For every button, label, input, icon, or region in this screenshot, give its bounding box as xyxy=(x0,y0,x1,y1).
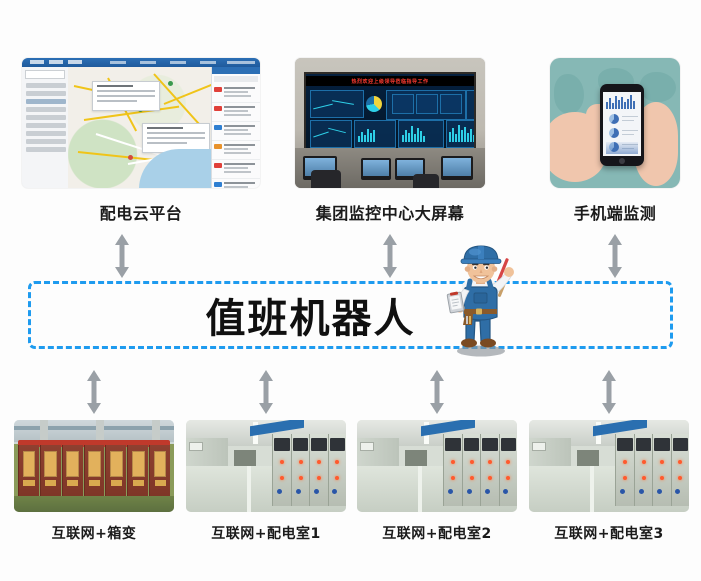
node-cloud-platform[interactable]: 配电云平台 xyxy=(22,58,260,224)
map-info-bubble xyxy=(92,81,160,111)
phone-screen xyxy=(603,92,641,156)
video-wall-banner-text: 热烈欢迎上级领导莅临指导工作 xyxy=(351,78,428,85)
cloud-platform-tree-sidebar xyxy=(22,67,69,188)
arrow-robot-to-box-substation xyxy=(82,368,106,416)
smartphone xyxy=(600,84,644,166)
alarm-list-item xyxy=(212,122,260,141)
phone-area-chart xyxy=(606,142,638,154)
room-2-thumbnail xyxy=(357,420,517,512)
phone-home-button xyxy=(619,158,625,164)
cloud-platform-alarm-list xyxy=(211,67,260,188)
alarm-list-item xyxy=(212,84,260,103)
tree-row xyxy=(26,91,66,96)
tree-row-selected xyxy=(26,99,66,104)
room-3-thumbnail xyxy=(529,420,689,512)
phone-donut-chart xyxy=(609,128,619,138)
tree-row xyxy=(26,147,66,152)
tree-row xyxy=(26,131,66,136)
box-substation-thumbnail xyxy=(14,420,174,512)
map-water-body xyxy=(139,149,213,188)
arrow-robot-to-room-2 xyxy=(425,368,449,416)
banner-title: 值班机器人 xyxy=(31,286,670,344)
operator-chair xyxy=(311,170,341,188)
arrow-robot-to-room-3 xyxy=(597,368,621,416)
room-2-label: 互联网+配电室2 xyxy=(357,523,517,543)
central-banner[interactable]: 值班机器人 xyxy=(28,281,673,349)
red-switchgear-photo xyxy=(14,420,174,512)
tree-search-box xyxy=(25,70,65,79)
mobile-thumbnail xyxy=(550,58,680,188)
phone-bar-chart xyxy=(606,95,635,109)
alarm-list-item xyxy=(212,179,260,188)
arrow-cloud-platform-to-robot xyxy=(110,232,134,280)
tree-row xyxy=(26,115,66,120)
tree-row xyxy=(26,139,66,144)
phone-donut-chart xyxy=(609,114,619,124)
box-substation-label: 互联网+箱变 xyxy=(14,523,174,543)
distribution-room-photo xyxy=(357,420,517,512)
alarm-list-item xyxy=(212,160,260,179)
node-room-1[interactable]: 互联网+配电室1 xyxy=(186,420,346,543)
engineer-mascot-icon xyxy=(440,243,522,357)
distribution-room-photo xyxy=(529,420,689,512)
control-center-thumbnail: 热烈欢迎上级领导莅临指导工作 xyxy=(295,58,485,188)
operator-chair xyxy=(413,174,439,188)
tree-row xyxy=(26,83,66,88)
control-center-label: 集团监控中心大屏幕 xyxy=(295,200,485,224)
control-center-photo: 热烈欢迎上级领导莅临指导工作 xyxy=(295,58,485,188)
tree-row xyxy=(26,123,66,128)
alarm-list-item xyxy=(212,141,260,160)
arrow-robot-to-room-1 xyxy=(254,368,278,416)
cloud-platform-label: 配电云平台 xyxy=(22,200,260,224)
cloud-platform-map xyxy=(68,67,212,188)
cloud-platform-header-bar xyxy=(22,58,260,67)
cloud-platform-logo xyxy=(30,60,82,64)
diagram-canvas: 配电云平台 热烈欢迎上级领导莅临指导工作 xyxy=(0,0,701,581)
operator-monitor xyxy=(441,156,473,180)
node-mobile[interactable]: 手机端监测 xyxy=(550,58,680,224)
operator-monitor xyxy=(361,158,391,180)
room-1-label: 互联网+配电室1 xyxy=(186,523,346,543)
video-wall-screen: 热烈欢迎上级领导莅临指导工作 xyxy=(304,72,476,154)
cloud-platform-menu xyxy=(110,61,216,64)
cloud-platform-user xyxy=(227,61,255,64)
mobile-photo xyxy=(550,58,680,188)
node-room-3[interactable]: 互联网+配电室3 xyxy=(529,420,689,543)
arrow-mobile-to-robot xyxy=(603,232,627,280)
alarm-list-item xyxy=(212,103,260,122)
distribution-room-photo xyxy=(186,420,346,512)
mobile-label: 手机端监测 xyxy=(550,200,680,224)
cloud-platform-thumbnail xyxy=(22,58,260,188)
node-box-substation[interactable]: 互联网+箱变 xyxy=(14,420,174,543)
arrow-control-center-to-robot xyxy=(378,232,402,280)
node-room-2[interactable]: 互联网+配电室2 xyxy=(357,420,517,543)
tree-row xyxy=(26,107,66,112)
room-1-thumbnail xyxy=(186,420,346,512)
node-control-center[interactable]: 热烈欢迎上级领导莅临指导工作 xyxy=(295,58,485,224)
room-3-label: 互联网+配电室3 xyxy=(529,523,689,543)
video-wall-banner: 热烈欢迎上级领导莅临指导工作 xyxy=(306,76,474,86)
